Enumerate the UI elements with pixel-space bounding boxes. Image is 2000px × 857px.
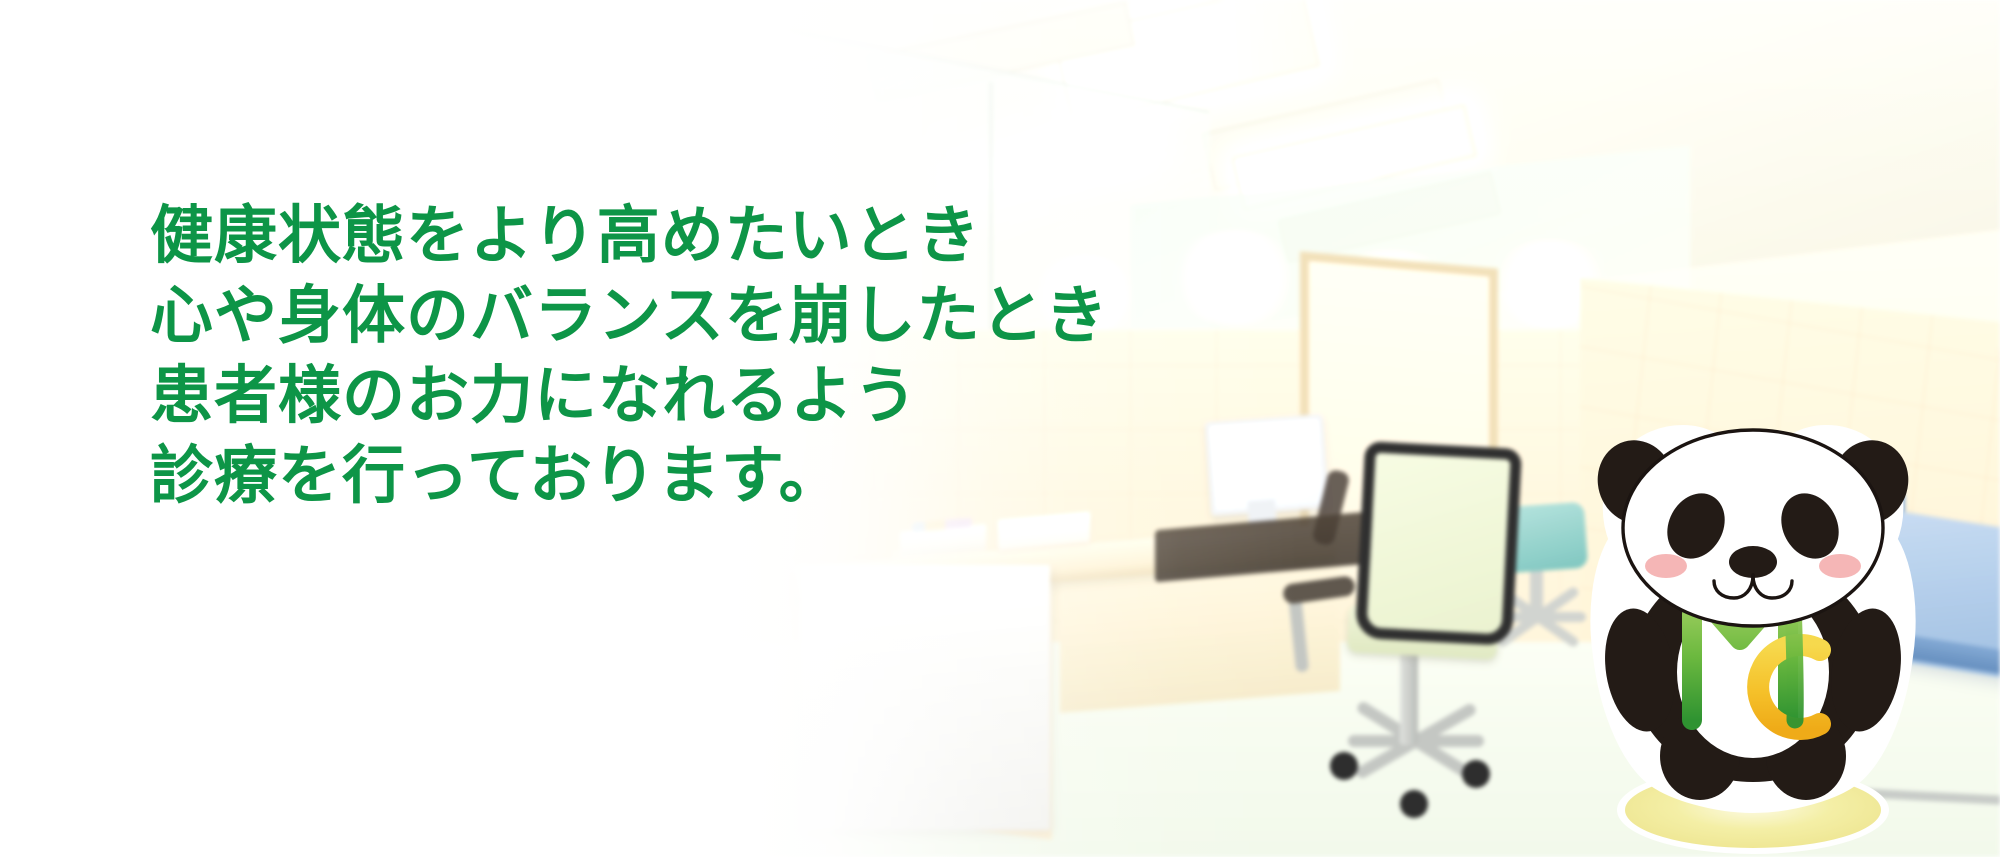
headline-line-2: 心や身体のバランスを崩したとき [150,276,1109,356]
cheek-left [1645,554,1687,578]
light-glow [1170,230,1300,325]
headline-line-3: 患者様のお力になれるよう [150,356,1109,436]
office-chair [1355,441,1522,646]
headline-line-1: 健康状態をより高めたいとき [150,196,1109,276]
cheek-right [1819,554,1861,578]
chair-post [1400,650,1418,745]
face [1623,430,1883,626]
filing-cabinet [800,565,1050,830]
chair-caster [1330,752,1358,780]
panda-mascot [1588,420,1918,857]
stool-post [1530,565,1543,620]
chair-caster [1462,760,1490,788]
chair-caster [1400,790,1428,818]
headline: 健康状態をより高めたいとき 心や身体のバランスを崩したとき 患者様のお力になれる… [150,196,1109,516]
hero-banner: 健康状態をより高めたいとき 心や身体のバランスを崩したとき 患者様のお力になれる… [0,0,2000,857]
nose [1729,546,1777,578]
headline-line-4: 診療を行っております。 [150,436,1109,516]
